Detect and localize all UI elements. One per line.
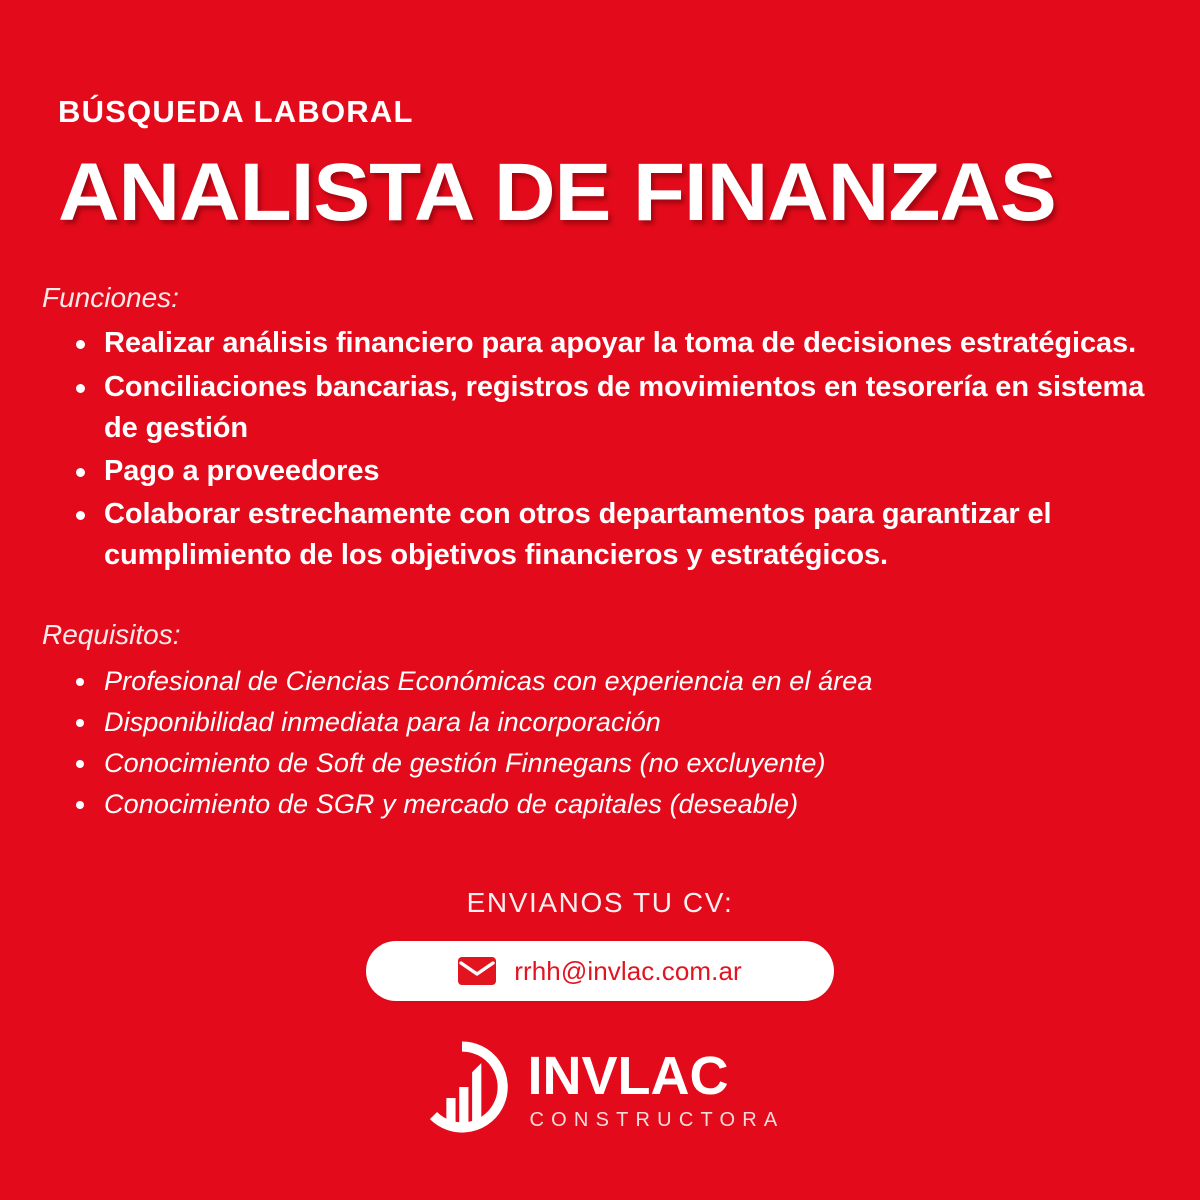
- logo-name: INVLAC: [528, 1049, 729, 1103]
- logo-subtitle: CONSTRUCTORA: [530, 1110, 785, 1130]
- list-item: Conocimiento de Soft de gestión Finnegan…: [68, 743, 1160, 784]
- list-item: Realizar análisis financiero para apoyar…: [68, 323, 1160, 364]
- requisitos-section: Requisitos: Profesional de Ciencias Econ…: [0, 620, 1200, 825]
- email-address: rrhh@invlac.com.ar: [514, 956, 742, 987]
- job-posting-poster: BÚSQUEDA LABORAL ANALISTA DE FINANZAS Fu…: [0, 0, 1200, 1200]
- list-item: Conciliaciones bancarias, registros de m…: [68, 367, 1160, 449]
- company-logo: INVLAC CONSTRUCTORA: [0, 1041, 1200, 1133]
- contact-section: ENVIANOS TU CV: rrhh@invlac.com.ar: [0, 887, 1200, 1001]
- list-item: Disponibilidad inmediata para la incorpo…: [68, 702, 1160, 743]
- poster-header: BÚSQUEDA LABORAL ANALISTA DE FINANZAS: [0, 0, 1200, 235]
- page-title: ANALISTA DE FINANZAS: [58, 151, 1200, 235]
- list-item: Profesional de Ciencias Económicas con e…: [68, 661, 1160, 702]
- requisitos-label: Requisitos:: [42, 620, 1160, 651]
- funciones-label: Funciones:: [42, 283, 1160, 314]
- logo-wordmark: INVLAC CONSTRUCTORA: [528, 1049, 785, 1130]
- email-contact-button[interactable]: rrhh@invlac.com.ar: [366, 941, 834, 1001]
- funciones-section: Funciones: Realizar análisis financiero …: [0, 283, 1200, 579]
- list-item: Colaborar estrechamente con otros depart…: [68, 494, 1160, 576]
- funciones-list: Realizar análisis financiero para apoyar…: [42, 323, 1160, 576]
- kicker-label: BÚSQUEDA LABORAL: [58, 96, 1200, 127]
- list-item: Pago a proveedores: [68, 451, 1160, 492]
- invlac-circle-bars-logo-icon: [416, 1041, 508, 1133]
- send-cv-heading: ENVIANOS TU CV:: [0, 887, 1200, 919]
- envelope-icon: [458, 957, 496, 985]
- requisitos-list: Profesional de Ciencias Económicas con e…: [42, 661, 1160, 825]
- list-item: Conocimiento de SGR y mercado de capital…: [68, 784, 1160, 825]
